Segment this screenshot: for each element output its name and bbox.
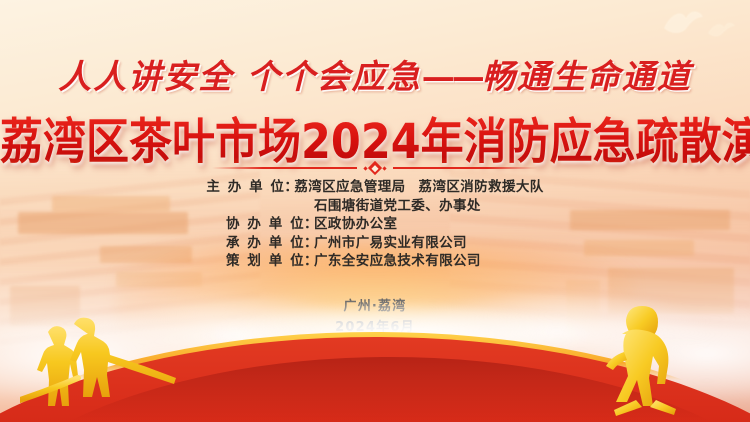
organizer-value: 区政协办公室 [314, 215, 524, 234]
divider-line-left [212, 167, 357, 169]
dove-icon [706, 20, 736, 40]
organizer-row: 承办单位：广州市广易实业有限公司 [0, 234, 750, 253]
diamond-ornament-icon [364, 163, 386, 173]
firefighter-carry-silhouette [578, 304, 728, 416]
organizer-label: 协办单位 [226, 215, 304, 234]
divider-line-right [393, 167, 538, 169]
organizer-value-secondary: 荔湾区消防救援大队 [419, 179, 544, 195]
organizer-row: 协办单位：区政协办公室 [0, 215, 750, 234]
decorative-divider [175, 160, 575, 176]
organizer-label: 承办单位 [226, 234, 304, 253]
organizer-colon: ： [304, 234, 314, 253]
headline-part2: 畅通生命通道 [482, 57, 692, 96]
organizer-label: 主办单位 [206, 178, 284, 197]
organizer-row: 主办单位：荔湾区应急管理局荔湾区消防救援大队 [0, 178, 750, 197]
poster-headline: 人人讲安全 个个会应急——畅通生命通道 [0, 50, 750, 98]
organizer-value: 荔湾区应急管理局荔湾区消防救援大队 [294, 178, 543, 197]
headline-dash: —— [422, 57, 482, 96]
dove-icon [660, 8, 706, 38]
organizer-value: 石围塘街道党工委、办事处 [314, 197, 524, 216]
headline-part1: 人人讲安全 个个会应急 [58, 57, 422, 96]
organizer-colon: ： [284, 178, 294, 197]
firefighter-hose-pair-silhouette [20, 316, 200, 412]
fire-drill-poster: 人人讲安全 个个会应急——畅通生命通道 荔湾区茶叶市场2024年消防应急疏散演练… [0, 0, 750, 422]
organizer-value: 广州市广易实业有限公司 [314, 234, 524, 253]
organizer-list: 主办单位：荔湾区应急管理局荔湾区消防救援大队 石围塘街道党工委、办事处 协办单位… [0, 178, 750, 271]
organizer-row: 石围塘街道党工委、办事处 [0, 197, 750, 216]
organizer-colon: ： [304, 215, 314, 234]
